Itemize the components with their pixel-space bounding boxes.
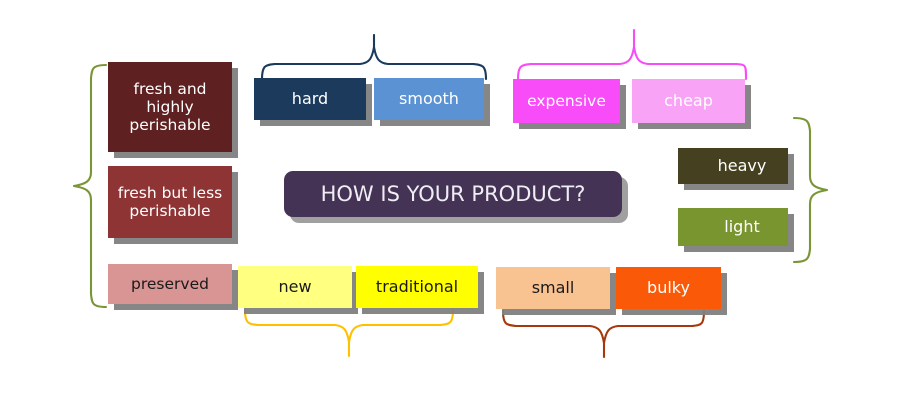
node-heavy[interactable]: heavy	[678, 148, 788, 184]
node-label: cheap	[636, 92, 741, 111]
brace-novelty	[240, 308, 464, 360]
node-hard[interactable]: hard	[254, 78, 366, 120]
brace-size	[498, 309, 716, 361]
node-label: fresh but less perishable	[112, 184, 228, 221]
node-label: expensive	[517, 92, 616, 110]
node-new[interactable]: new	[238, 266, 352, 308]
node-label: light	[700, 218, 784, 237]
node-label: bulky	[620, 279, 717, 298]
brace-price	[512, 28, 748, 82]
node-bulky[interactable]: bulky	[616, 267, 721, 309]
node-traditional[interactable]: traditional	[356, 266, 478, 308]
node-label: new	[242, 278, 348, 297]
center-question-label: HOW IS YOUR PRODUCT?	[288, 182, 618, 207]
node-fresh-and-highly-perishable[interactable]: fresh and highly perishable	[108, 62, 232, 152]
node-cheap[interactable]: cheap	[632, 79, 745, 123]
node-label: small	[500, 279, 606, 298]
node-label: fresh and highly perishable	[112, 80, 228, 135]
node-label: smooth	[378, 90, 480, 109]
node-label: hard	[258, 90, 362, 109]
brace-texture	[256, 34, 488, 82]
node-light[interactable]: light	[678, 208, 788, 246]
node-preserved[interactable]: preserved	[108, 264, 232, 304]
node-expensive[interactable]: expensive	[513, 79, 620, 123]
node-small[interactable]: small	[496, 267, 610, 309]
center-question-box[interactable]: HOW IS YOUR PRODUCT?	[284, 171, 622, 217]
node-smooth[interactable]: smooth	[374, 78, 484, 120]
brace-perishability	[62, 62, 110, 310]
node-label: traditional	[360, 278, 474, 297]
node-fresh-but-less-perishable[interactable]: fresh but less perishable	[108, 166, 232, 238]
node-label: heavy	[700, 157, 784, 176]
node-label: preserved	[112, 275, 228, 293]
diagram-canvas: fresh and highly perishable fresh but le…	[0, 0, 900, 406]
brace-weight	[792, 114, 848, 266]
